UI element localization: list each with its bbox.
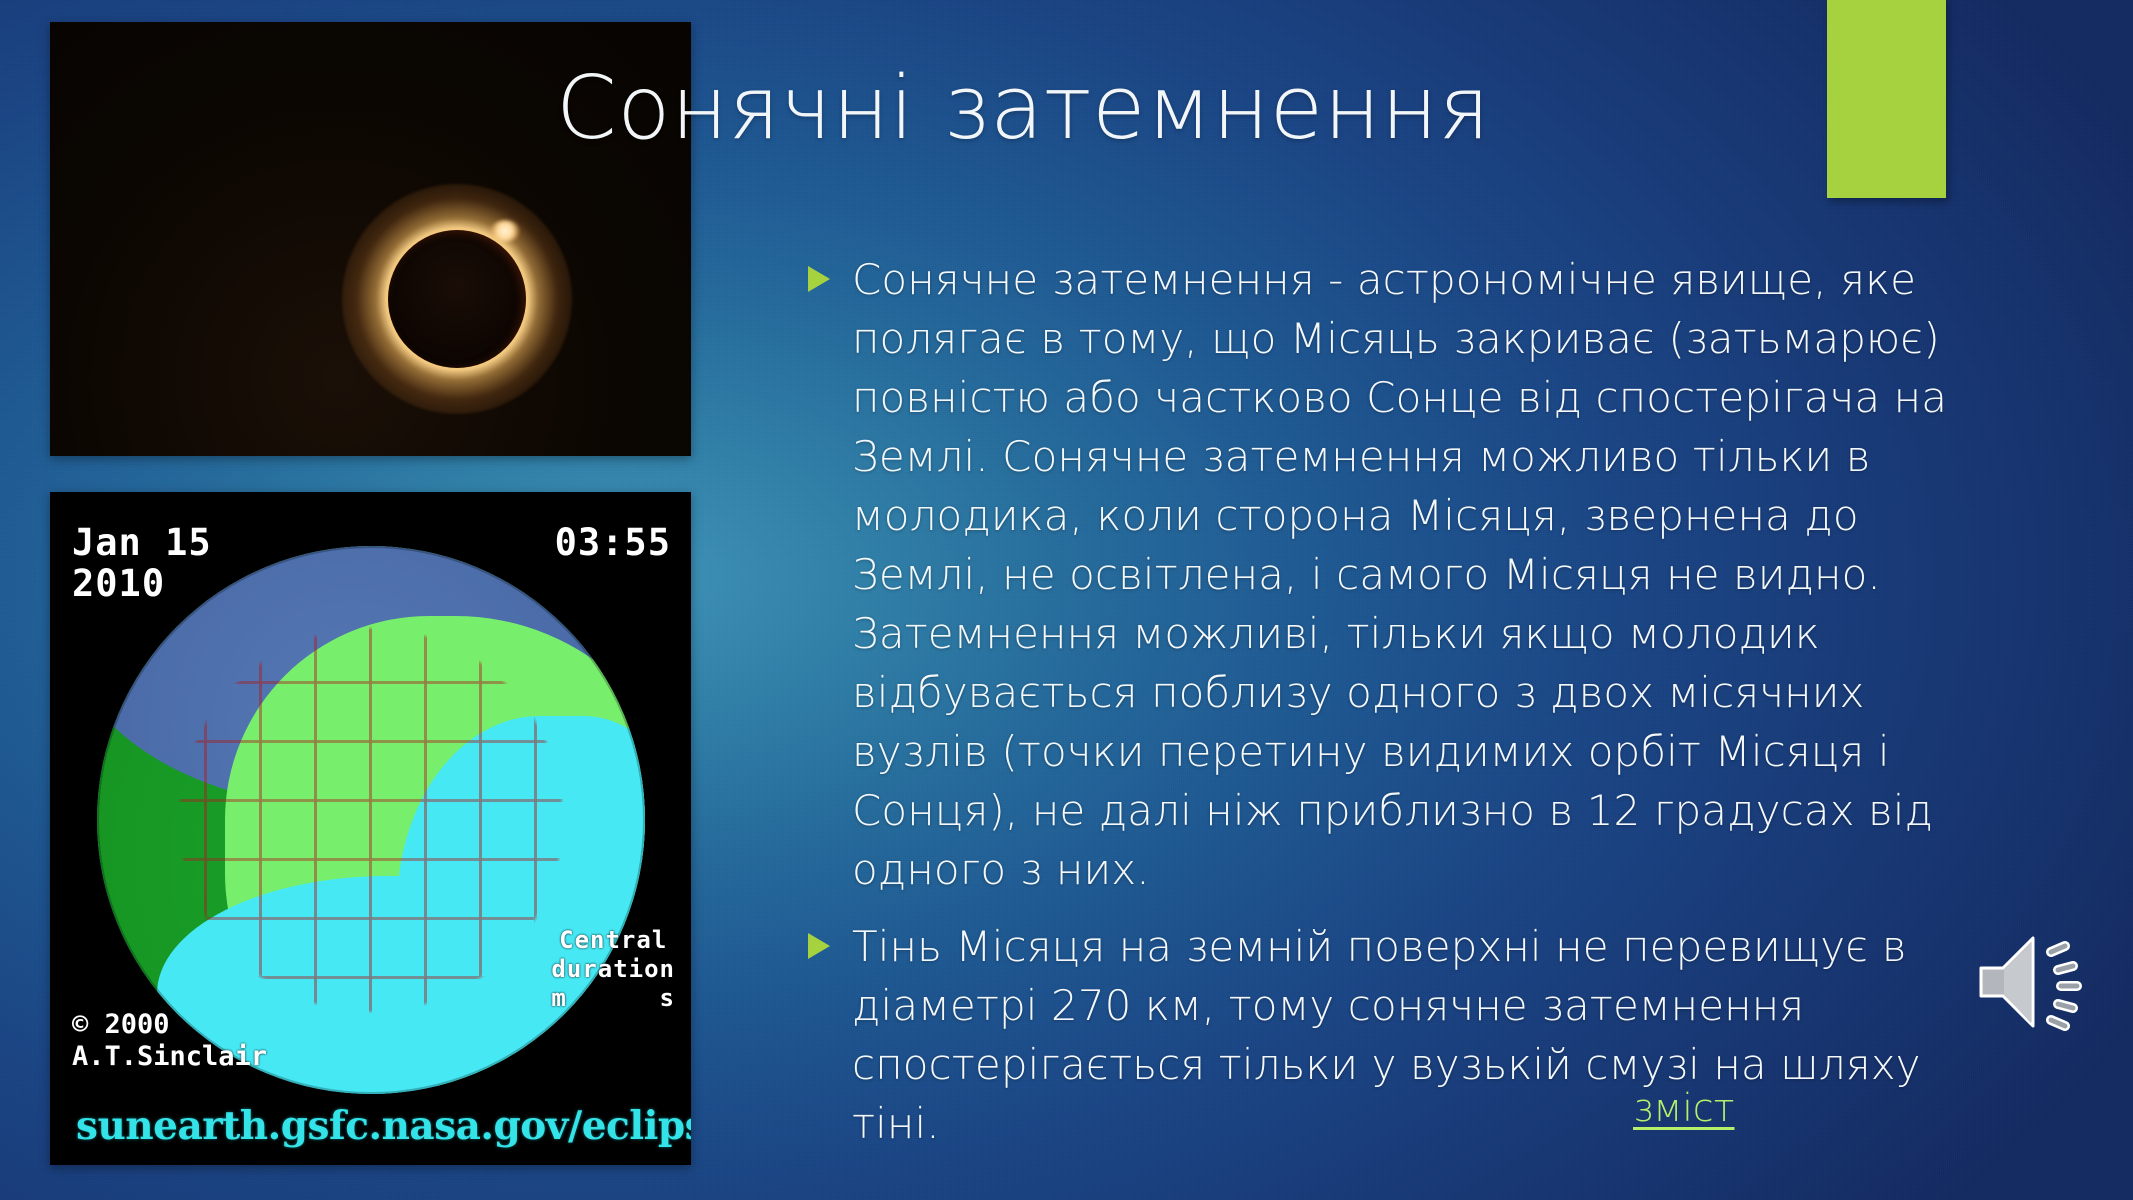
- content-link[interactable]: зміст: [1633, 1085, 1735, 1131]
- triangle-right-icon: [806, 264, 832, 294]
- nasa-eclipse-path-globe: Jan 15 2010 03:55 Central duration m s ©…: [50, 492, 691, 1165]
- speaker-sound-icon[interactable]: [1973, 920, 2108, 1045]
- bullet-text: Тінь Місяця на земній поверхні не переви…: [852, 917, 1966, 1153]
- globe-central-duration-label: Central duration m s: [551, 926, 675, 1013]
- globe-time-label: 03:55: [555, 522, 671, 563]
- bullet-text: Сонячне затемнення - астрономічне явище,…: [852, 250, 1966, 899]
- eclipse-bright-bead: [490, 220, 520, 242]
- eclipse-moon-disc: [388, 230, 526, 368]
- slide-canvas: Сонячні затемнення Jan 15 2010 03:55 Cen…: [0, 0, 2133, 1200]
- bullet-item: Сонячне затемнення - астрономічне явище,…: [806, 250, 1966, 899]
- triangle-right-icon: [806, 931, 832, 961]
- page-title: Сонячні затемнення: [556, 52, 1826, 168]
- bullet-item: Тінь Місяця на земній поверхні не переви…: [806, 917, 1966, 1153]
- globe-date-label: Jan 15 2010: [72, 522, 212, 604]
- accent-bar: [1827, 0, 1946, 198]
- globe-credit-label: © 2000 A.T.Sinclair: [72, 1009, 267, 1073]
- body-content: Сонячне затемнення - астрономічне явище,…: [806, 250, 1966, 1171]
- globe-url-label: sunearth.gsfc.nasa.gov/eclipse: [76, 1103, 691, 1149]
